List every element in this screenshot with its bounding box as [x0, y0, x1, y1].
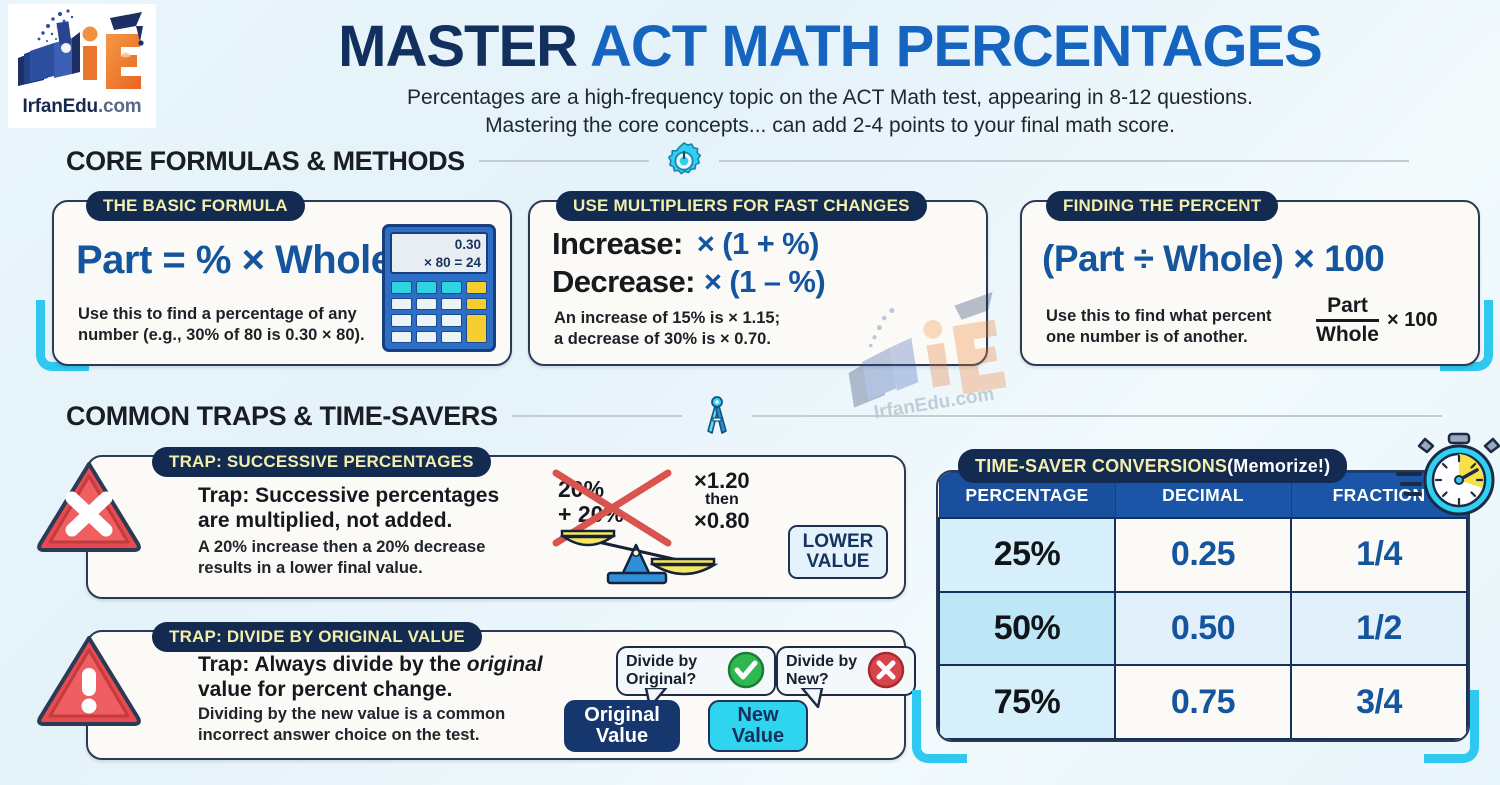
conversions-table-card: PERCENTAGE DECIMAL FRACTION 25% 0.25 1/4…	[936, 470, 1470, 742]
trap-successive-heading: Trap: Successive percentages are multipl…	[198, 483, 528, 533]
trap-divide-heading: Trap: Always divide by the original valu…	[198, 652, 618, 702]
subtitle-line-2: Mastering the core concepts... can add 2…	[170, 112, 1490, 140]
section-label-traps: COMMON TRAPS & TIME-SAVERS	[66, 401, 498, 432]
calculator-icon: 0.30 × 80 = 24	[382, 224, 496, 352]
fraction-illustration: Part Whole × 100	[1316, 294, 1438, 347]
table-row: 75% 0.75 3/4	[939, 665, 1467, 739]
formula-finding-percent: (Part ÷ Whole) × 100	[1042, 238, 1384, 280]
cell-decimal: 0.75	[1115, 665, 1291, 739]
infographic-canvas: IrfanEdu.com MASTER ACT MATH PERCENTAGES…	[0, 0, 1500, 785]
cell-percentage: 25%	[939, 518, 1115, 592]
exclamation-warning-triangle-icon	[34, 632, 144, 728]
cell-percentage: 50%	[939, 592, 1115, 666]
multiplier-rows: Increase: × (1 + %) Decrease: × (1 – %)	[552, 226, 825, 302]
multiplier-row-increase: Increase: × (1 + %)	[552, 226, 825, 264]
subtitle-line-1: Percentages are a high-frequency topic o…	[170, 84, 1490, 112]
cell-fraction: 3/4	[1291, 665, 1467, 739]
section-label-core: CORE FORMULAS & METHODS	[66, 146, 465, 177]
cell-decimal: 0.25	[1115, 518, 1291, 592]
table-row: 50% 0.50 1/2	[939, 592, 1467, 666]
cell-fraction: 1/4	[1291, 518, 1467, 592]
formula-basic-description: Use this to find a percentage of any num…	[78, 304, 378, 346]
cell-decimal: 0.50	[1115, 592, 1291, 666]
fraction-suffix: × 100	[1387, 309, 1438, 332]
card-pill-trap-successive: TRAP: SUCCESSIVE PERCENTAGES	[152, 447, 491, 477]
stopwatch-icon	[1392, 432, 1500, 520]
table-row: 25% 0.25 1/4	[939, 518, 1467, 592]
book-graduation-logo-icon	[14, 8, 150, 92]
balance-scale-illustration: 20% + 20% ×1.20 then ×0.80	[550, 463, 800, 591]
section-header-core: CORE FORMULAS & METHODS	[66, 140, 1409, 182]
cell-percentage: 75%	[939, 665, 1115, 739]
fraction-denominator: Whole	[1316, 323, 1379, 347]
cell-fraction: 1/2	[1291, 592, 1467, 666]
scale-beam-icon	[550, 519, 800, 591]
check-icon	[726, 650, 766, 690]
multiplier-row-decrease: Decrease: × (1 – %)	[552, 264, 825, 302]
formula-card-finding-percent: (Part ÷ Whole) × 100 Use this to find wh…	[1020, 200, 1480, 366]
conversions-table: PERCENTAGE DECIMAL FRACTION 25% 0.25 1/4…	[938, 472, 1468, 740]
lower-value-badge: LOWER VALUE	[788, 525, 888, 579]
brand-logo: IrfanEdu.com	[8, 4, 156, 128]
fraction-numerator: Part	[1316, 294, 1379, 318]
card-pill-conversions: TIME-SAVER CONVERSIONS (Memorize!)	[958, 449, 1347, 483]
card-pill-multipliers: USE MULTIPLIERS FOR FAST CHANGES	[556, 191, 927, 221]
formula-card-basic: Part = % × Whole Use this to find a perc…	[52, 200, 512, 366]
divider-line	[719, 160, 1409, 162]
divider-line	[752, 415, 1442, 417]
formula-basic: Part = % × Whole	[76, 238, 393, 283]
calculator-screen: 0.30 × 80 = 24	[390, 232, 488, 274]
formula-finding-percent-description: Use this to find what percent one number…	[1046, 306, 1306, 348]
trap-successive-body: A 20% increase then a 20% decrease resul…	[198, 537, 548, 578]
calculator-keys	[391, 281, 487, 343]
title-dark: MASTER	[338, 14, 577, 79]
divider-line	[479, 160, 649, 162]
card-pill-trap-divide: TRAP: DIVIDE BY ORIGINAL VALUE	[152, 622, 482, 652]
new-value-button[interactable]: New Value	[708, 700, 808, 752]
formula-card-multipliers: Increase: × (1 + %) Decrease: × (1 – %) …	[528, 200, 988, 366]
formula-multipliers-description: An increase of 15% is × 1.15; a decrease…	[554, 308, 884, 350]
x-icon	[866, 650, 906, 690]
divider-line	[512, 415, 682, 417]
compass-divider-icon	[696, 395, 738, 437]
brand-name: IrfanEdu.com	[8, 96, 156, 118]
title-accent: ACT MATH PERCENTAGES	[590, 14, 1322, 79]
emphasis-original: original	[467, 653, 543, 676]
original-value-button[interactable]: Original Value	[564, 700, 680, 752]
x-warning-triangle-icon	[34, 458, 144, 554]
gear-icon	[663, 140, 705, 182]
card-pill-finding-percent: FINDING THE PERCENT	[1046, 191, 1278, 221]
card-pill-basic-formula: THE BASIC FORMULA	[86, 191, 305, 221]
section-header-traps: COMMON TRAPS & TIME-SAVERS	[66, 395, 1442, 437]
page-subtitle: Percentages are a high-frequency topic o…	[170, 84, 1490, 140]
page-title: MASTER ACT MATH PERCENTAGES	[170, 18, 1490, 76]
